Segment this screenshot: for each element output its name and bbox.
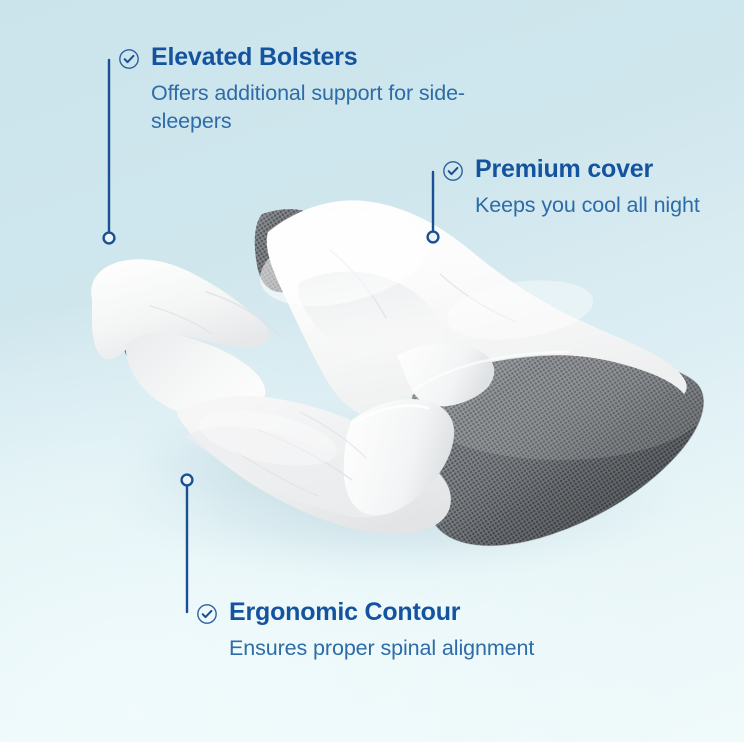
callout-ergonomic-contour: Ergonomic Contour Ensures proper spinal … [196,598,534,662]
callout-elevated-bolsters: Elevated Bolsters Offers additional supp… [118,43,481,136]
callout-title: Ergonomic Contour [229,598,460,628]
callout-description: Ensures proper spinal alignment [229,634,534,663]
callout-premium-cover: Premium cover Keeps you cool all night [442,155,705,219]
callout-header: Premium cover [442,155,705,185]
check-circle-icon [196,603,218,625]
callout-description: Offers additional support for side-sleep… [151,79,481,136]
callout-title: Elevated Bolsters [151,43,357,73]
callout-header: Elevated Bolsters [118,43,481,73]
leader-dot-cover [428,232,439,243]
leader-dot-contour [182,475,193,486]
check-circle-icon [118,48,140,70]
leader-dot-bolsters [104,233,115,244]
callout-header: Ergonomic Contour [196,598,534,628]
callout-description: Keeps you cool all night [475,191,705,220]
check-circle-icon [442,160,464,182]
product-infographic: Elevated Bolsters Offers additional supp… [0,0,744,742]
callout-title: Premium cover [475,155,653,185]
